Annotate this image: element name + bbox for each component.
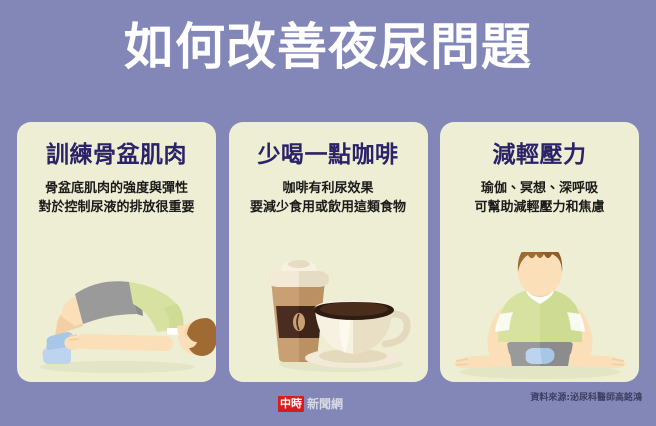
- card-reduce-stress[interactable]: 減輕壓力 瑜伽、冥想、深呼吸 可幫助減輕壓力和焦慮: [440, 122, 639, 382]
- card-body: 瑜伽、冥想、深呼吸 可幫助減輕壓力和焦慮: [474, 179, 604, 217]
- card-heading: 訓練骨盆肌肉: [46, 141, 187, 169]
- card-body-line: 骨盆底肌肉的強度與彈性: [38, 179, 194, 198]
- logo-wordmark: 新聞網: [307, 397, 343, 411]
- card-body-line: 對於控制尿液的排放很重要: [38, 198, 194, 217]
- card-pelvic-floor[interactable]: 訓練骨盆肌肉 骨盆底肌肉的強度與彈性 對於控制尿液的排放很重要: [17, 122, 216, 382]
- logo-badge: 中時: [278, 396, 304, 412]
- infographic-canvas: 如何改善夜尿問題 訓練骨盆肌肉 骨盆底肌肉的強度與彈性 對於控制尿液的排放很重要: [0, 0, 656, 426]
- source-credit: 資料來源:泌尿科醫師高銘鴻: [530, 392, 642, 404]
- cards-row: 訓練骨盆肌肉 骨盆底肌肉的強度與彈性 對於控制尿液的排放很重要: [17, 122, 639, 382]
- card-body: 咖啡有利尿效果 要減少食用或飲用這類食物: [250, 179, 406, 217]
- bridge-pose-illustration: [17, 252, 216, 382]
- card-heading: 少喝一點咖啡: [258, 141, 399, 169]
- card-body: 骨盆底肌肉的強度與彈性 對於控制尿液的排放很重要: [38, 179, 194, 217]
- card-body-line: 瑜伽、冥想、深呼吸: [474, 179, 604, 198]
- card-body-line: 可幫助減輕壓力和焦慮: [474, 198, 604, 217]
- meditation-pose-illustration: [440, 252, 639, 382]
- site-logo[interactable]: 中時 新聞網: [278, 396, 343, 412]
- coffee-cups-illustration: [229, 252, 428, 382]
- card-body-line: 要減少食用或飲用這類食物: [250, 198, 406, 217]
- card-less-coffee[interactable]: 少喝一點咖啡 咖啡有利尿效果 要減少食用或飲用這類食物: [229, 122, 428, 382]
- card-heading: 減輕壓力: [493, 141, 587, 169]
- page-title: 如何改善夜尿問題: [0, 18, 656, 76]
- card-body-line: 咖啡有利尿效果: [250, 179, 406, 198]
